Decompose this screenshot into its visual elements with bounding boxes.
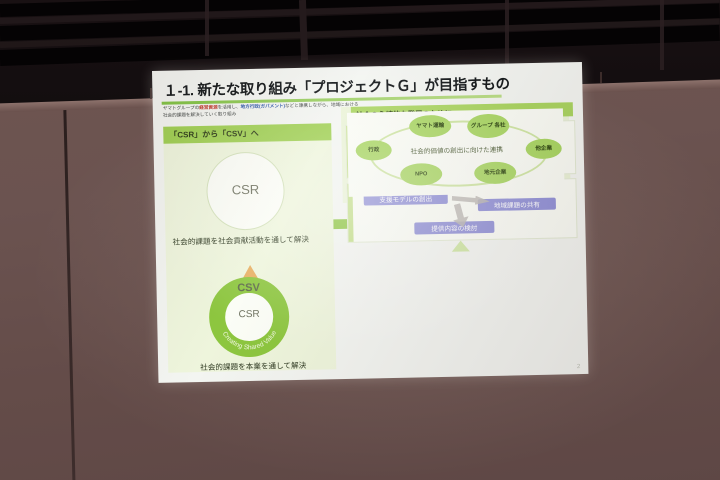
ceiling-post <box>660 0 664 70</box>
upward-arrow-icon <box>452 240 470 251</box>
subtitle-part-1: ヤマトグループの <box>163 105 200 111</box>
left-panel-csr-csv: 「CSR」から「CSV」へ CSR 社会的課題を社会貢献活動を通して解決 CSV… <box>163 123 336 372</box>
subtitle-highlight-2: 地方行政(ガバメント) <box>241 103 286 109</box>
left-panel-header-label: 「CSR」から「CSV」へ <box>169 128 259 141</box>
process-pill-review: 提供内容の検討 <box>414 221 494 235</box>
csr-circle-label: CSR <box>207 181 283 198</box>
network-node-other-companies: 他企業 <box>526 138 562 159</box>
projected-slide: １-1. 新たな取り組み「プロジェクトＧ」が目指すもの ヤマトグループの経営資源… <box>152 62 588 383</box>
slide-subtitle: ヤマトグループの経営資源を活用し、地方行政(ガバメント)などと連携しながら、地域… <box>163 102 359 119</box>
right-panel-project-g: 社会の永続的な発展のために 共通価値の創造 企業の成長 社会課題の解決 支援モデ… <box>341 102 578 369</box>
slide-page-number: 2 <box>577 364 580 370</box>
csv-caption: 社会的課題を本業を通して解決 <box>174 359 332 373</box>
csv-inner-label: CSR <box>225 309 273 321</box>
slide-title: １-1. 新たな取り組み「プロジェクトＧ」が目指すもの <box>163 71 571 101</box>
network-inner: 社会的価値の創出に向けた連携 ヤマト運輸 グループ 各社 行政 他企業 NPO … <box>347 108 565 197</box>
subtitle-highlight-1: 経営資源 <box>199 105 217 110</box>
network-box: 社会的価値の創出に向けた連携 ヤマト運輸 グループ 各社 行政 他企業 NPO … <box>341 102 571 203</box>
left-panel-header: 「CSR」から「CSV」へ <box>163 123 331 144</box>
ceiling-post <box>505 0 509 64</box>
wall-hook <box>600 72 602 83</box>
process-pill-share: 地域課題の共有 <box>478 198 556 212</box>
csr-circle: CSR <box>207 152 285 230</box>
csr-caption: 社会的課題を社会貢献活動を通して解決 <box>172 233 328 247</box>
photo-scene: １-1. 新たな取り組み「プロジェクトＧ」が目指すもの ヤマトグループの経営資源… <box>0 0 720 480</box>
subtitle-part-2: を活用し、 <box>218 104 241 109</box>
csv-ring: CSV Creating Shared Value CSR <box>208 276 290 358</box>
ceiling-post <box>205 0 209 56</box>
network-node-local-companies: 地元企業 <box>474 161 516 184</box>
